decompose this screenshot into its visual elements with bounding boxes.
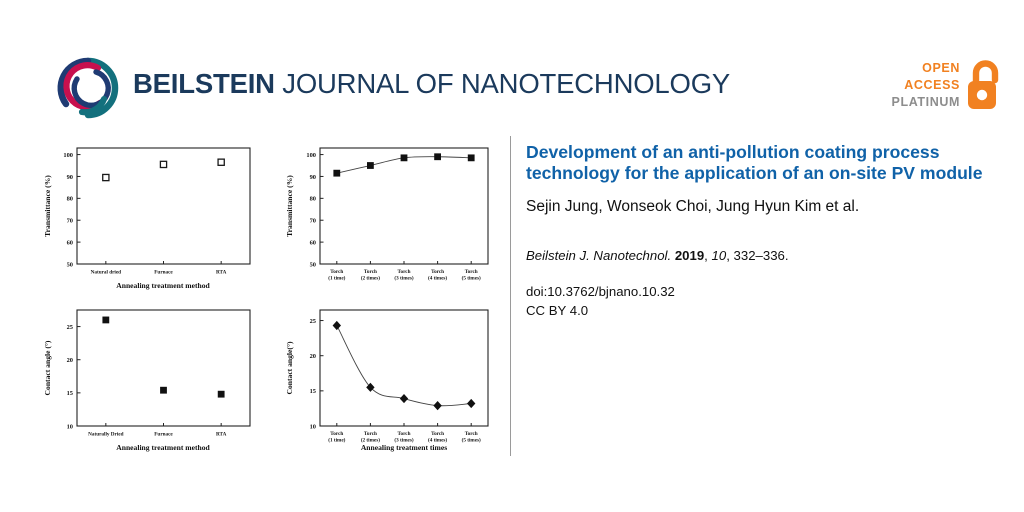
x-tick-label: RTA [216,432,227,438]
x-tick-label: (1 time) [328,437,345,444]
x-tick-label: Torch [398,431,411,437]
x-tick-label: (5 times) [462,275,481,282]
article-figure-panel: 5060708090100 Transmittance (%) Natural … [34,136,504,456]
x-tick-label: (1 time) [328,275,345,282]
y-tick-label: 100 [306,152,316,159]
data-point [103,174,109,180]
citation-year: 2019 [675,248,704,263]
data-point [333,170,340,177]
open-access-line-access: ACCESS [892,77,960,94]
y-tick-label: 70 [67,218,73,225]
y-tick-label: 10 [67,423,73,430]
chart1-xlabel: Annealing treatment method [116,281,210,290]
data-point [218,391,225,398]
chart4-ylabel: Contact angle(°) [285,341,294,394]
chart1-ylabel: Transmittance (%) [43,175,52,237]
y-tick-label: 20 [310,353,316,360]
open-access-badge[interactable]: OPEN ACCESS PLATINUM [884,58,1002,120]
x-tick-label: Torch [465,431,478,437]
journal-title-bold: BEILSTEIN [133,68,275,99]
y-tick-label: 15 [67,390,73,397]
chart3-ylabel: Contact angle (°) [43,340,52,395]
y-tick-label: 15 [310,388,316,395]
data-point [160,161,166,167]
article-doi[interactable]: doi:10.3762/bjnano.10.32 [526,282,988,301]
series-line [337,325,471,405]
x-tick-label: (3 times) [394,275,413,282]
article-authors: Sejin Jung, Wonseok Choi, Jung Hyun Kim … [526,197,988,217]
chart3-xlabel: Annealing treatment method [116,443,210,452]
data-point [333,321,341,330]
data-point [434,153,441,160]
chart-contact-angle-vs-method: 10152025 Contact angle (°) Naturally Dri… [34,298,266,456]
article-license[interactable]: CC BY 4.0 [526,301,988,320]
page-header: BEILSTEIN JOURNAL OF NANOTECHNOLOGY OPEN… [0,0,1024,134]
data-point [433,401,441,410]
data-point [367,162,374,169]
x-tick-label: (2 times) [361,275,380,282]
chart-transmittance-vs-method: 5060708090100 Transmittance (%) Natural … [34,136,266,294]
vertical-divider [510,136,511,456]
y-tick-label: 90 [67,174,73,181]
chart-transmittance-vs-torch-times: 5060708090100 Transmittance (%) Torch(1 … [272,136,504,294]
y-tick-label: 50 [310,261,316,268]
article-info: Development of an anti-pollution coating… [526,142,988,320]
chart4-xlabel: Annealing treatment times [361,443,447,452]
data-point [467,399,475,408]
x-tick-label: Furnace [154,432,173,438]
chart-contact-angle-vs-torch-times: 10152025 Contact angle(°) Torch(1 time)T… [272,298,504,456]
data-point [401,154,408,161]
article-title[interactable]: Development of an anti-pollution coating… [526,142,988,183]
data-point [218,159,224,165]
y-tick-label: 60 [67,239,73,246]
open-access-line-platinum: PLATINUM [892,94,960,111]
data-point [468,154,475,161]
open-access-line-open: OPEN [892,60,960,77]
x-tick-label: Torch [330,431,343,437]
journal-title-light: JOURNAL OF NANOTECHNOLOGY [275,68,730,99]
y-tick-label: 20 [67,357,73,364]
x-tick-label: (5 times) [462,437,481,444]
x-tick-label: Furnace [154,270,173,276]
x-tick-label: Torch [364,431,377,437]
chart2-ylabel: Transmittance (%) [285,175,294,237]
x-tick-label: Torch [330,269,343,275]
x-tick-label: Torch [364,269,377,275]
y-tick-label: 25 [310,318,316,325]
data-point [160,387,167,394]
x-tick-label: Torch [431,431,444,437]
citation-volume: 10 [712,248,727,263]
x-tick-label: Torch [465,269,478,275]
article-citation: Beilstein J. Nanotechnol. 2019, 10, 332–… [526,247,988,265]
y-tick-label: 100 [63,152,73,159]
x-tick-label: Naturally Dried [88,432,123,438]
y-tick-label: 25 [67,324,73,331]
open-access-text: OPEN ACCESS PLATINUM [892,60,960,111]
y-tick-label: 70 [310,218,316,225]
x-tick-label: Torch [398,269,411,275]
x-tick-label: Torch [431,269,444,275]
y-tick-label: 60 [310,239,316,246]
beilstein-spiral-logo [52,55,124,121]
x-tick-label: (4 times) [428,275,447,282]
y-tick-label: 80 [67,196,73,203]
journal-title: BEILSTEIN JOURNAL OF NANOTECHNOLOGY [133,68,730,100]
x-tick-label: RTA [216,270,227,276]
data-point [102,317,109,324]
y-tick-label: 90 [310,174,316,181]
x-tick-label: Natural dried [91,270,122,276]
y-tick-label: 50 [67,261,73,268]
y-tick-label: 10 [310,423,316,430]
open-lock-icon [962,58,1002,114]
citation-journal: Beilstein J. Nanotechnol. [526,248,671,263]
data-point [400,394,408,403]
citation-pages: 332–336. [734,248,789,263]
y-tick-label: 80 [310,196,316,203]
